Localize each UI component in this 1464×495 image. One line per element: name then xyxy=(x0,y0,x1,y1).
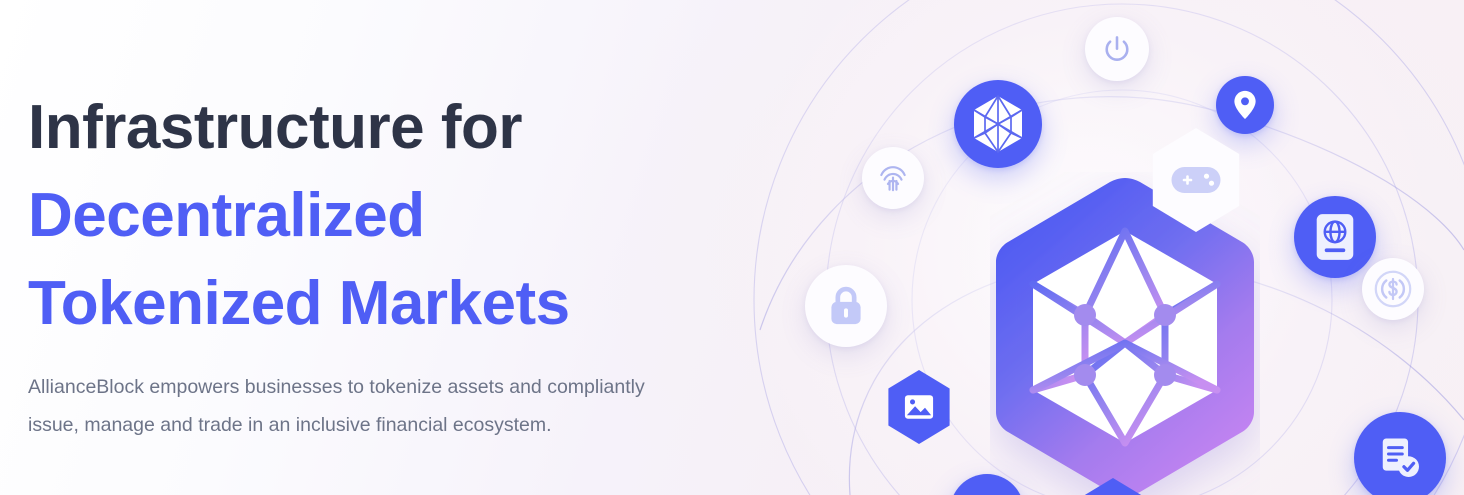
hero-copy: Infrastructure for Decentralized Tokeniz… xyxy=(28,84,728,444)
biometrics-badge[interactable] xyxy=(862,147,924,209)
stablecoin-badge[interactable] xyxy=(1362,258,1424,320)
fingerprint-icon xyxy=(877,162,909,194)
hero-illustration xyxy=(700,0,1464,495)
security-badge[interactable] xyxy=(805,265,887,347)
image-icon xyxy=(904,394,934,420)
document-check-icon xyxy=(1377,435,1423,481)
identity-badge[interactable] xyxy=(1294,196,1376,278)
hero-subcopy: AllianceBlock empowers businesses to tok… xyxy=(28,368,648,444)
headline-line-2: Decentralized xyxy=(28,172,728,260)
dollar-coin-icon xyxy=(1374,270,1412,308)
compliance-badge[interactable] xyxy=(1354,412,1446,495)
headline-line-3: Tokenized Markets xyxy=(28,260,728,348)
power-icon xyxy=(1102,34,1132,64)
headline-line-1: Infrastructure for xyxy=(28,84,728,172)
location-badge[interactable] xyxy=(1216,76,1274,134)
passport-globe-icon xyxy=(1315,213,1355,261)
allianceblock-hexagon-emblem xyxy=(990,172,1260,495)
allianceblock-logo-badge[interactable] xyxy=(954,80,1042,168)
map-pin-icon xyxy=(1232,90,1258,120)
padlock-icon xyxy=(827,285,865,327)
gamepad-icon xyxy=(1170,161,1222,199)
network-hexagon-icon xyxy=(972,95,1024,153)
page-title: Infrastructure for Decentralized Tokeniz… xyxy=(28,84,728,348)
hero-banner: Infrastructure for Decentralized Tokeniz… xyxy=(0,0,1464,495)
power-badge[interactable] xyxy=(1085,17,1149,81)
